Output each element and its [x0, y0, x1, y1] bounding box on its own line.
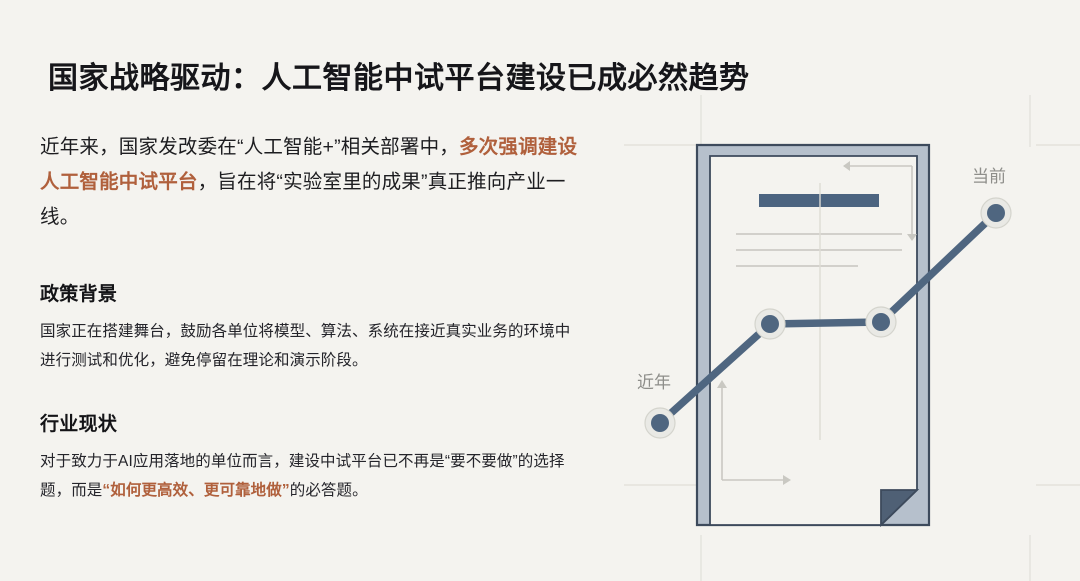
section-body: 对于致力于AI应用落地的单位而言，建设中试平台已不再是“要不要做”的选择题，而是…: [40, 447, 585, 505]
chart-node: [645, 408, 675, 438]
section-policy-background: 政策背景 国家正在搭建舞台，鼓励各单位将模型、算法、系统在接近真实业务的环境中进…: [40, 279, 585, 375]
section-heading: 行业现状: [40, 409, 585, 436]
content-column: 近年来，国家发改委在“人工智能+”相关部署中，多次强调建设人工智能中试平台，旨在…: [40, 130, 585, 505]
chart-node: [755, 309, 785, 339]
illustration-document-growth-chart: 近年 当前: [596, 95, 1080, 581]
intro-paragraph: 近年来，国家发改委在“人工智能+”相关部署中，多次强调建设人工智能中试平台，旨在…: [40, 130, 585, 235]
document-title-bar: [759, 194, 879, 207]
section-body-part2: 的必答题。: [290, 482, 368, 499]
section-industry-status: 行业现状 对于致力于AI应用落地的单位而言，建设中试平台已不再是“要不要做”的选…: [40, 409, 585, 505]
section-body: 国家正在搭建舞台，鼓励各单位将模型、算法、系统在接近真实业务的环境中进行测试和优…: [40, 317, 585, 375]
chart-label-start: 近年: [637, 373, 671, 392]
section-body-highlight: “如何更高效、更可靠地做”: [102, 482, 289, 499]
page-title: 国家战略驱动：人工智能中试平台建设已成必然趋势: [48, 53, 750, 97]
slide-root: 国家战略驱动：人工智能中试平台建设已成必然趋势 近年来，国家发改委在“人工智能+…: [0, 0, 1080, 581]
chart-node: [866, 307, 896, 337]
section-heading: 政策背景: [40, 279, 585, 306]
intro-text-part1: 近年来，国家发改委在“人工智能+”相关部署中，: [40, 136, 459, 158]
chart-label-end: 当前: [972, 167, 1006, 186]
chart-node: [981, 198, 1011, 228]
